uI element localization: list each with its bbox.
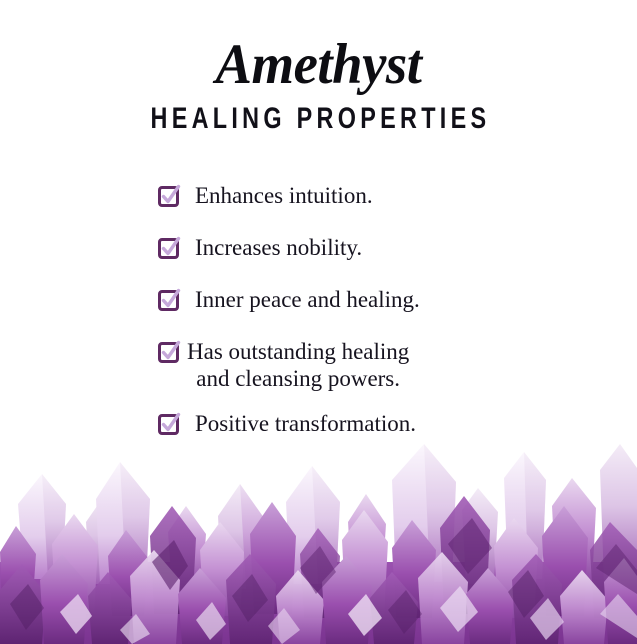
- list-item[interactable]: Has outstanding healing and cleansing po…: [0, 338, 637, 392]
- checkbox-checked-icon[interactable]: [158, 186, 179, 207]
- checkbox-checked-icon[interactable]: [158, 414, 179, 435]
- list-item-label: Has outstanding healing and cleansing po…: [187, 338, 409, 392]
- list-item[interactable]: Positive transformation.: [0, 410, 637, 437]
- checkbox-checked-icon[interactable]: [158, 290, 179, 311]
- check-mark-icon: [160, 342, 181, 363]
- list-item[interactable]: Enhances intuition.: [0, 182, 637, 209]
- check-mark-icon: [160, 186, 181, 207]
- header: Amethyst HEALING PROPERTIES: [0, 34, 637, 136]
- list-item-label: Inner peace and healing.: [195, 286, 420, 313]
- checkbox-checked-icon[interactable]: [158, 342, 179, 363]
- properties-list: Enhances intuition. Increases nobility. …: [0, 182, 637, 437]
- list-item-label: Positive transformation.: [195, 410, 416, 437]
- list-item[interactable]: Inner peace and healing.: [0, 286, 637, 313]
- check-mark-icon: [160, 290, 181, 311]
- list-item[interactable]: Increases nobility.: [0, 234, 637, 261]
- list-item-label: Increases nobility.: [195, 234, 362, 261]
- page-subtitle: HEALING PROPERTIES: [70, 102, 567, 136]
- check-mark-icon: [160, 238, 181, 259]
- check-mark-icon: [160, 414, 181, 435]
- amethyst-crystal-cluster-image: [0, 444, 637, 644]
- list-item-label: Enhances intuition.: [195, 182, 373, 209]
- amethyst-healing-properties-infographic: Amethyst HEALING PROPERTIES Enhances int…: [0, 0, 637, 644]
- page-title: Amethyst: [13, 34, 625, 96]
- checkbox-checked-icon[interactable]: [158, 238, 179, 259]
